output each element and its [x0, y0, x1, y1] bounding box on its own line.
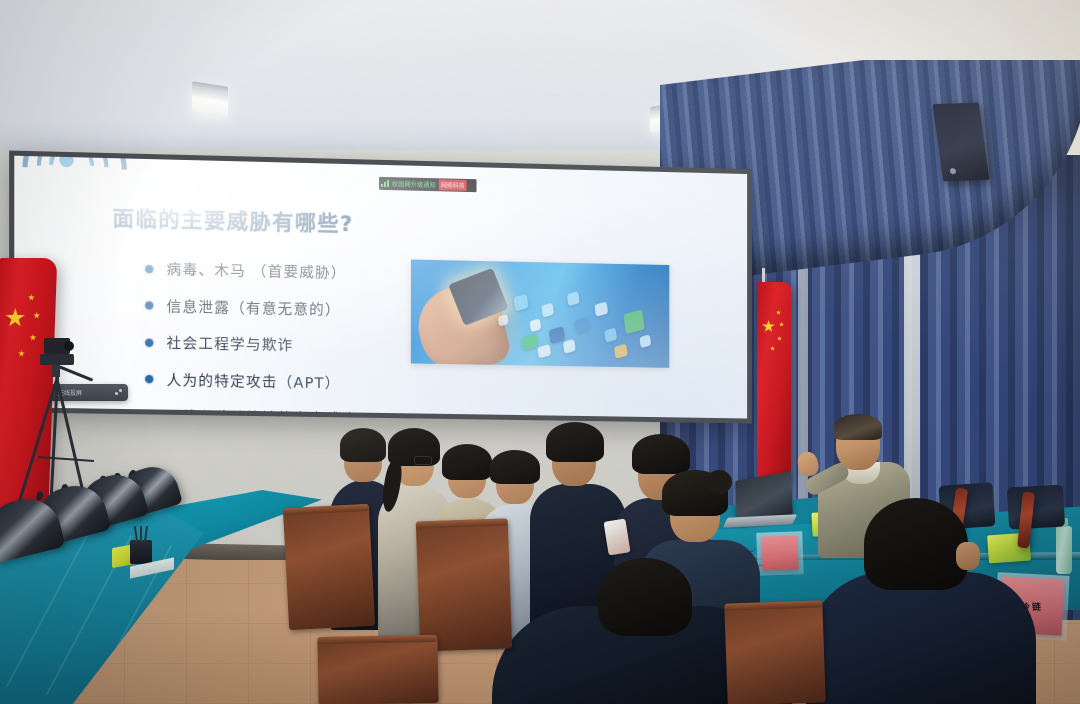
wooden-chair[interactable] — [317, 635, 438, 704]
pen-holder — [130, 540, 152, 564]
wooden-chair[interactable] — [416, 518, 512, 651]
list-item: 社会工程学与欺诈 — [145, 332, 356, 357]
audience-head — [864, 498, 968, 590]
bullet-text: 信息泄露（有意无意的） — [166, 295, 340, 319]
audience-head — [598, 558, 692, 636]
slide-illustration — [411, 260, 669, 368]
projection-screen-frame: 校园网升级通知 网络科技 面临的主要威胁有哪些? 病毒、木马 （首要威胁） 信息… — [9, 150, 752, 423]
bullet-text: 社会工程学与欺诈 — [166, 332, 293, 355]
tripod-brace — [38, 456, 94, 462]
ticker-badge: 网络科技 — [439, 179, 467, 191]
ticker-text: 校园网升级通知 — [392, 179, 436, 189]
audience-hair-bun — [706, 470, 732, 494]
wooden-chair[interactable] — [283, 504, 375, 630]
list-item: 人为的特定攻击（APT） — [145, 368, 356, 393]
audience-ear — [956, 542, 980, 570]
audience-member-foreground — [806, 498, 1036, 704]
bullet-text: 人为的特定攻击（APT） — [166, 369, 340, 393]
ceiling-light-icon-1 — [192, 81, 228, 117]
signal-bars-icon — [381, 180, 389, 187]
bullet-dot-icon — [145, 264, 153, 272]
glasses-icon — [414, 456, 432, 465]
water-bottle — [1056, 526, 1072, 574]
bullet-text: 病毒、木马 （首要威胁） — [166, 258, 346, 283]
bullet-dot-icon — [145, 375, 153, 383]
audience-hair — [632, 434, 690, 474]
camera-lens-icon — [64, 341, 74, 351]
list-item: 信息泄露（有意无意的） — [145, 295, 356, 320]
tripod-pan-handle[interactable] — [59, 365, 94, 381]
share-icon[interactable] — [115, 389, 123, 397]
bullet-dot-icon — [145, 301, 153, 309]
audience-torso — [806, 572, 1036, 704]
screenshot-root: 校园网升级通知 网络科技 面临的主要威胁有哪些? 病毒、木马 （首要威胁） 信息… — [0, 0, 1080, 704]
projection-screen: 校园网升级通知 网络科技 面临的主要威胁有哪些? 病毒、木马 （首要威胁） 信息… — [14, 156, 747, 419]
slide-bullet-list: 病毒、木马 （首要威胁） 信息泄露（有意无意的） 社会工程学与欺诈 人为的特定攻… — [145, 258, 356, 419]
presenter-hair — [834, 414, 882, 440]
china-flag-right — [757, 282, 791, 488]
audience-hair — [546, 422, 604, 462]
bullet-dot-icon — [145, 338, 153, 346]
list-item: 病毒、木马 （首要威胁） — [145, 258, 356, 283]
slide-title: 面临的主要威胁有哪些? — [113, 203, 354, 239]
tripod-head — [40, 354, 74, 365]
led-ticker-bar: 校园网升级通知 网络科技 — [379, 177, 477, 192]
wooden-chair[interactable] — [724, 600, 826, 704]
